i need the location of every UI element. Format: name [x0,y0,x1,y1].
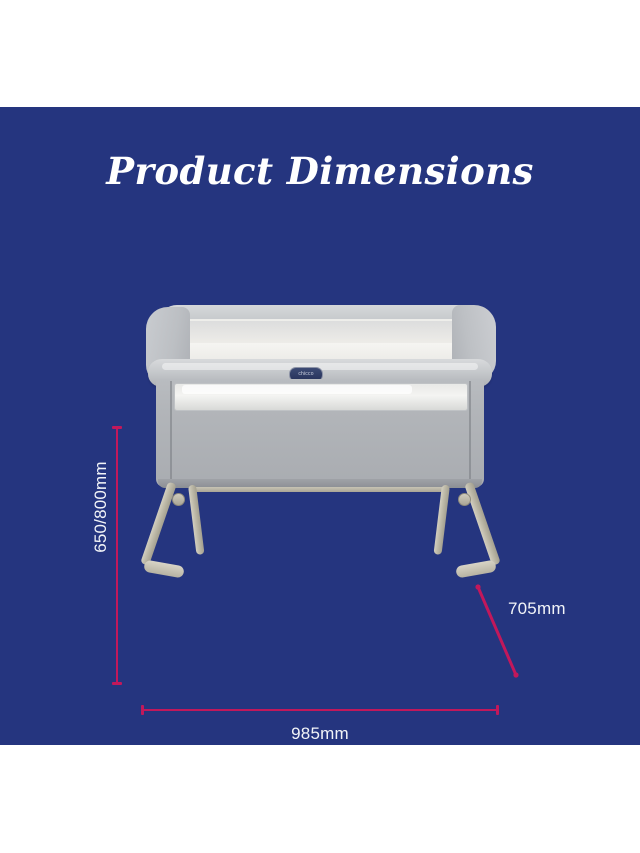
depth-dimension-line [460,577,540,687]
crib-leg-left-inner [188,485,204,555]
blue-background-panel: Product Dimensions chicco [0,107,640,745]
chicco-logo-text: chicco [298,372,313,377]
width-dimension-cap-right [496,705,499,715]
width-dimension-label: 985mm [180,724,460,744]
width-dimension-line [142,709,498,711]
crib-mesh-highlight [182,385,412,394]
crib-leg-joint-left [172,493,185,506]
product-dimensions-page: Product Dimensions chicco [0,0,640,853]
crib-foot-left [143,560,184,579]
crib-interior-shading [182,321,458,343]
crib-seam-left [170,381,172,485]
crib-cross-support-bar [194,487,446,492]
page-title: Product Dimensions [0,149,640,193]
crib-foot-right [455,560,496,579]
crib-seam-right [469,381,471,485]
product-image-crib: chicco [142,297,498,597]
crib-leg-joint-right [458,493,471,506]
height-dimension-cap-bottom [112,682,122,685]
crib-leg-right-inner [433,485,449,555]
depth-dimension-label: 705mm [508,599,566,619]
crib-leg-left-outer [140,482,177,566]
height-dimension-cap-top [112,426,122,429]
crib-leg-right-outer [464,482,501,566]
width-dimension-cap-left [141,705,144,715]
height-dimension-line [116,427,118,685]
height-dimension-label: 650/800mm [91,447,111,567]
